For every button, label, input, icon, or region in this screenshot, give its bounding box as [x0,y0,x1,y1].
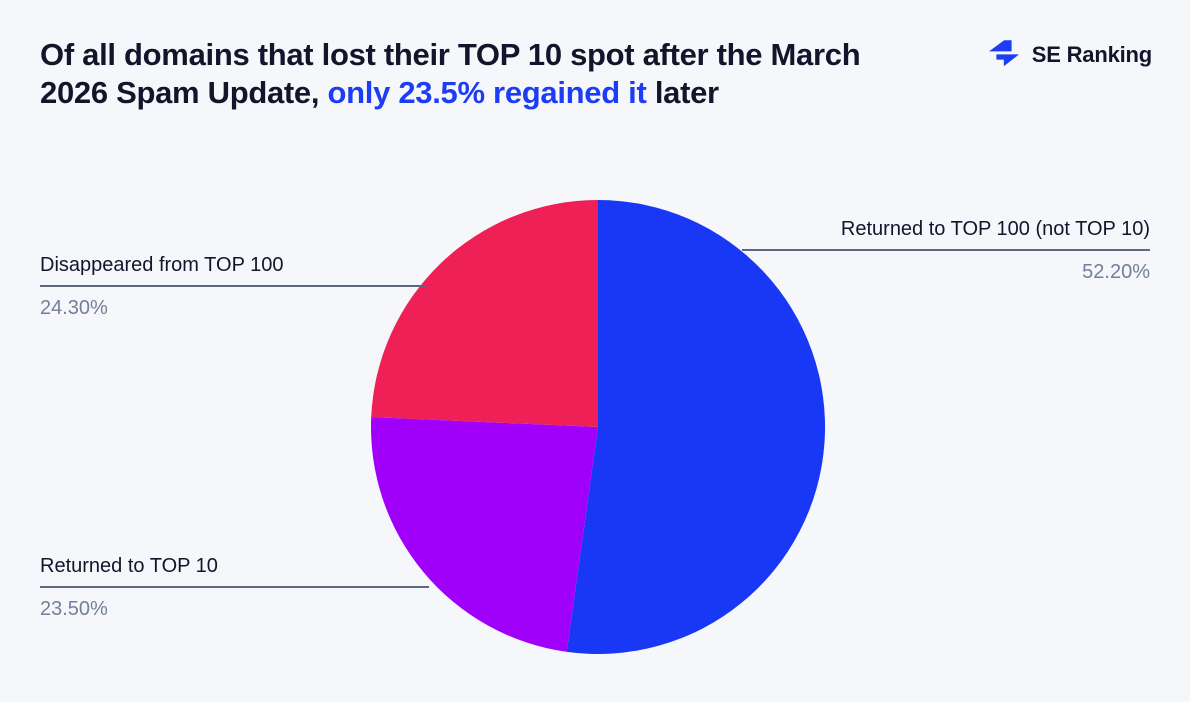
page-title-part2: later [647,75,719,110]
callout-leader-line [40,285,426,287]
infographic-page: Of all domains that lost their TOP 10 sp… [0,0,1190,702]
callout-label: Returned to TOP 100 (not TOP 10) [742,217,1150,242]
callout-leader-line [742,249,1150,251]
page-title-accent: only 23.5% regained it [328,75,647,110]
page-title: Of all domains that lost their TOP 10 sp… [40,36,920,112]
callout-value: 23.50% [40,597,429,622]
callout-leader-line [40,586,429,588]
callout-disappeared-top100: Disappeared from TOP 100 24.30% [40,253,426,321]
callout-returned-top10: Returned to TOP 10 23.50% [40,554,429,622]
callout-value: 24.30% [40,296,426,321]
callout-value: 52.20% [742,260,1150,285]
brand-name: SE Ranking [1032,42,1152,68]
brand-logo: SE Ranking [987,38,1152,72]
lightning-bolt-icon [987,38,1021,72]
callout-label: Returned to TOP 10 [40,554,429,579]
callout-returned-top100: Returned to TOP 100 (not TOP 10) 52.20% [742,217,1150,285]
callout-label: Disappeared from TOP 100 [40,253,426,278]
header: Of all domains that lost their TOP 10 sp… [0,0,1190,170]
